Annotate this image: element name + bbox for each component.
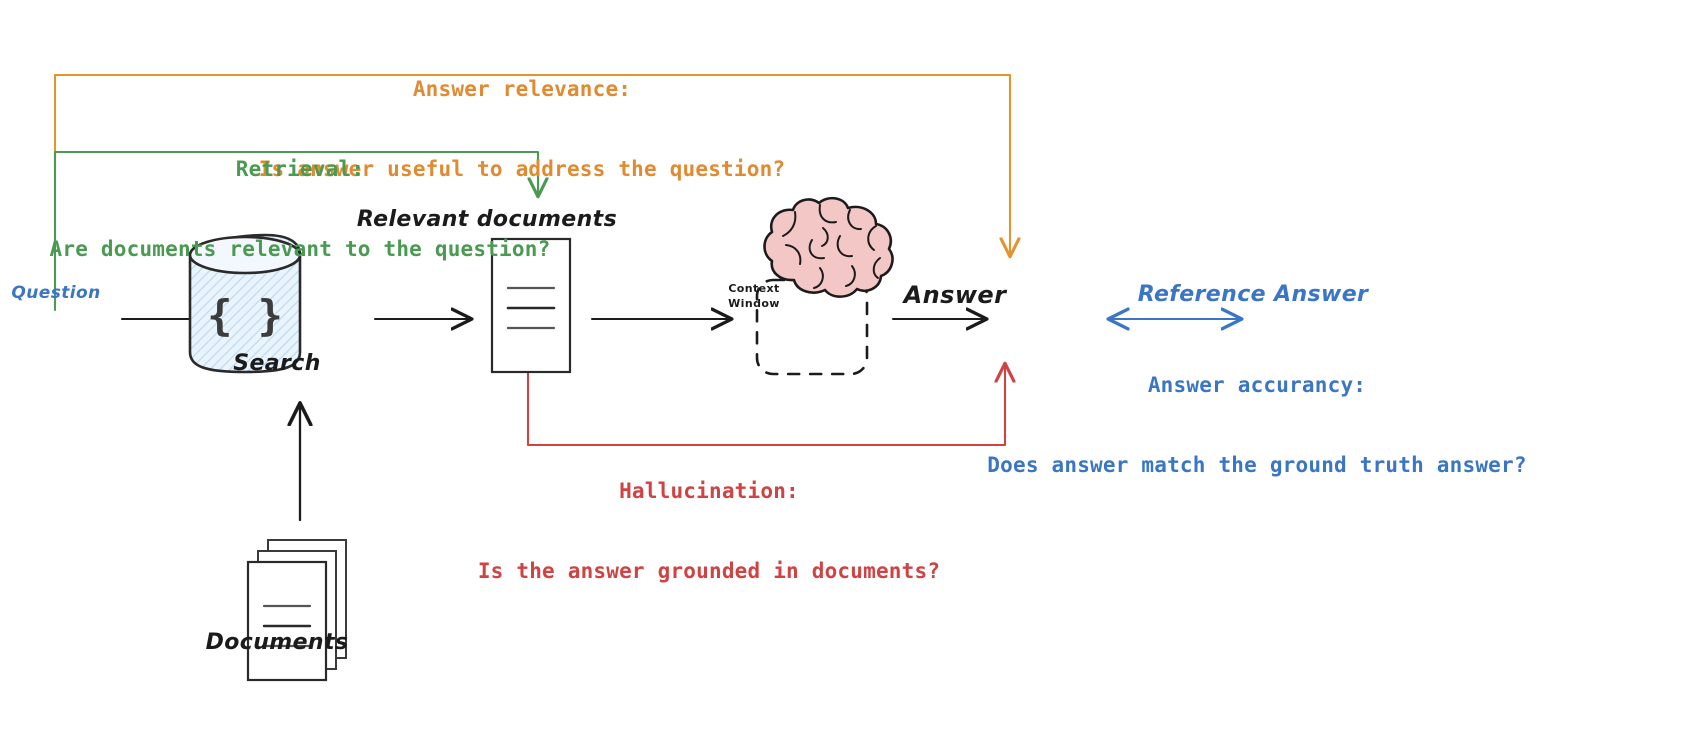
hallucination-question: Is the answer grounded in documents? (478, 558, 940, 585)
answer-accuracy-annotation: Answer accurancy: Does answer match the … (987, 318, 1526, 533)
retrieval-question: Are documents relevant to the question? (50, 236, 551, 263)
reference-answer-node-label: Reference Answer (1138, 281, 1369, 309)
diagram-text-layer: Answer relevance: Is answer useful to ad… (0, 0, 1696, 731)
hallucination-annotation: Hallucination: Is the answer grounded in… (478, 424, 940, 639)
search-node-label: Search (233, 350, 321, 378)
answer-relevance-heading: Answer relevance: (259, 76, 786, 103)
question-node-label: Question (11, 283, 100, 305)
hallucination-heading: Hallucination: (478, 478, 940, 505)
answer-accuracy-question: Does answer match the ground truth answe… (987, 452, 1526, 479)
documents-node-label: Documents (206, 629, 349, 657)
relevant-documents-node-label: Relevant documents (357, 206, 617, 234)
retrieval-heading: Retrieval: (50, 156, 551, 183)
answer-accuracy-heading: Answer accurancy: (987, 372, 1526, 399)
diagram-canvas: { } (0, 0, 1696, 731)
answer-node-label: Answer (904, 280, 1007, 311)
context-window-label: Context Window (728, 282, 780, 312)
